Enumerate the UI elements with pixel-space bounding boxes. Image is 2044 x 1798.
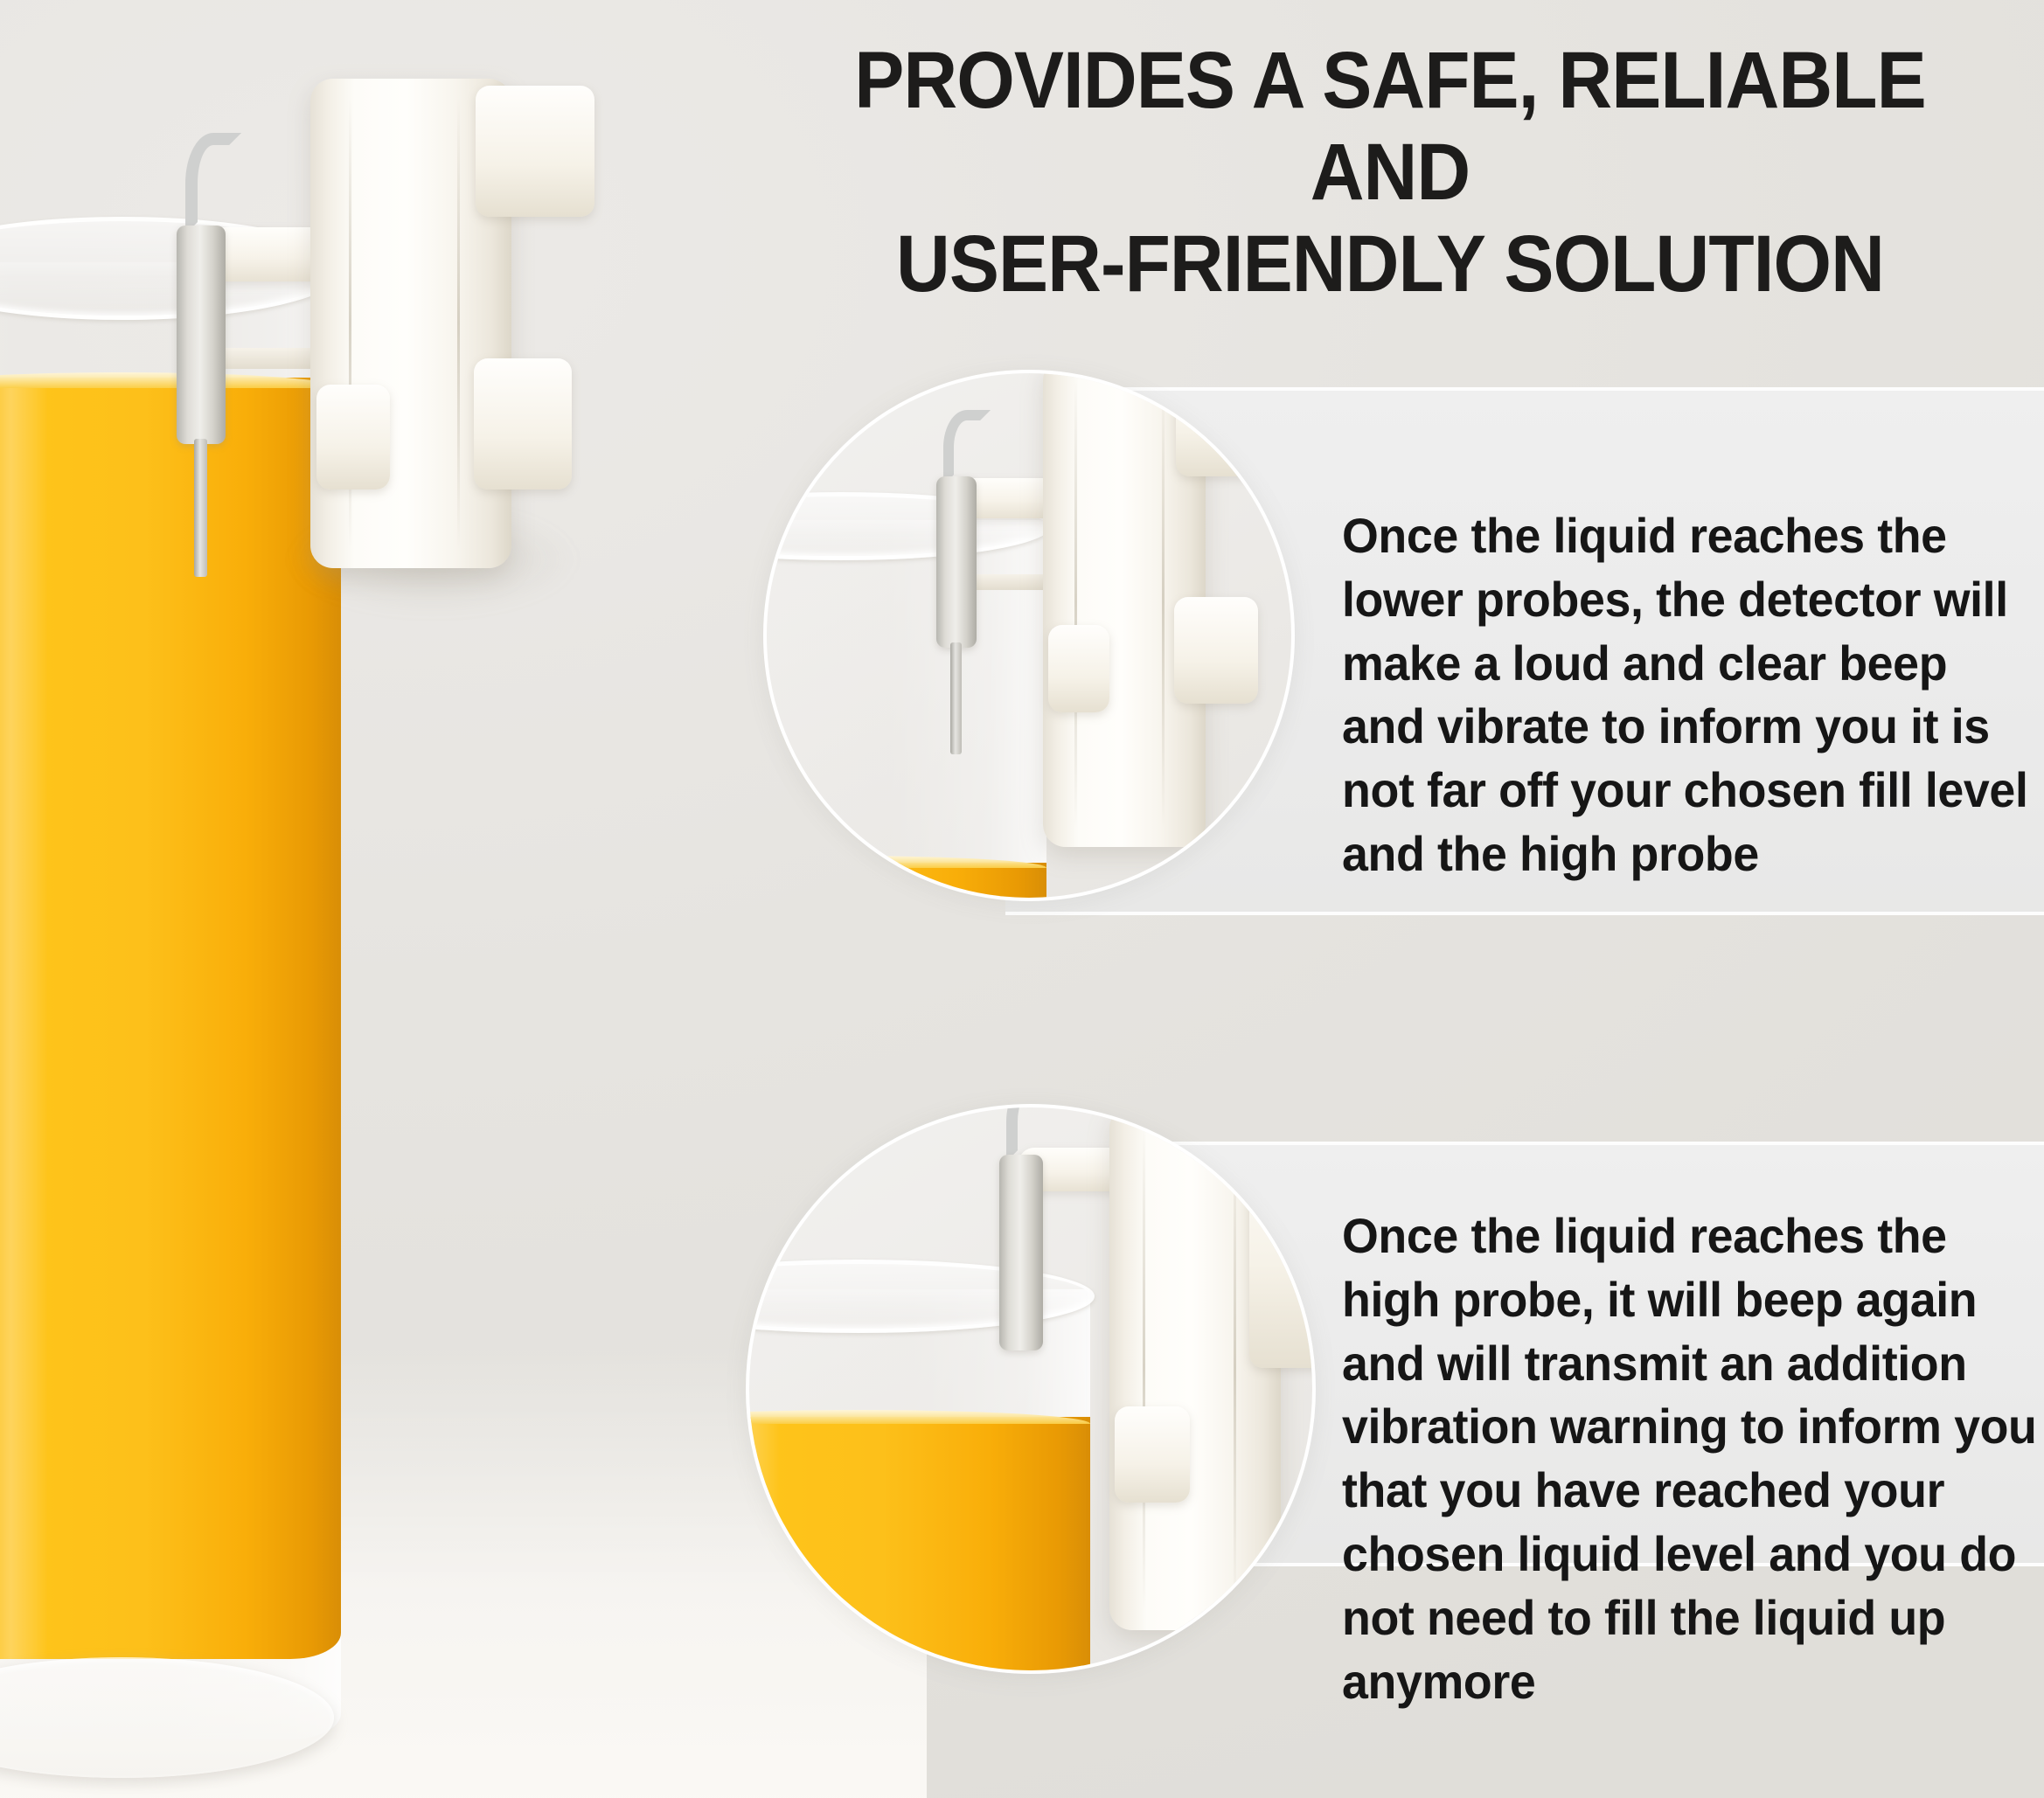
page-title: PROVIDES A SAFE, RELIABLE AND USER-FRIEN…	[813, 35, 1968, 310]
device-top-hook	[476, 86, 594, 217]
feature-text-high-probe: Once the liquid reaches the high probe, …	[1342, 1204, 2039, 1713]
inset1-lower-clip	[1048, 625, 1109, 712]
inset1-juice-fill	[763, 863, 1046, 901]
feature-inset-high-probe	[746, 1104, 1316, 1674]
probe-elbow-tube	[185, 133, 241, 234]
feature-inset-lower-probe	[763, 370, 1295, 901]
hero-liquid-level-detector	[262, 96, 629, 586]
inset2-detector	[1074, 1104, 1316, 1599]
inset1-body-seam-left	[1074, 377, 1077, 827]
inset1-probe-pin	[950, 642, 962, 754]
inset1-body-seam-right	[1162, 377, 1165, 827]
device-lower-clip	[316, 385, 390, 489]
feature-text-lower-probe: Once the liquid reaches the lower probes…	[1342, 504, 2039, 886]
inset2-body-seam-right	[1234, 1127, 1236, 1609]
inset1-top-hook	[1176, 370, 1279, 476]
probe-collar	[177, 226, 226, 444]
inset2-probe-elbow	[1006, 1104, 1057, 1162]
inset2-juice-fill	[746, 1417, 1090, 1674]
inset2-side-button	[1115, 1406, 1190, 1503]
probe-pin-low	[194, 439, 207, 577]
product-feature-graphic: PROVIDES A SAFE, RELIABLE AND USER-FRIEN…	[0, 0, 2044, 1798]
inset1-probe-collar	[936, 476, 977, 648]
inset2-body-seam-left	[1143, 1127, 1145, 1609]
inset1-side-button	[1174, 597, 1258, 704]
inset1-probe-elbow	[943, 410, 991, 485]
device-side-button	[474, 358, 572, 489]
inset-scene-high-fill	[749, 1107, 1312, 1670]
inset1-detector	[1010, 389, 1295, 843]
inset-scene-low-fill	[767, 373, 1291, 898]
inset2-probe-collar	[999, 1155, 1043, 1350]
inset2-top-hook	[1249, 1106, 1316, 1368]
device-body-seam-right	[457, 98, 460, 548]
